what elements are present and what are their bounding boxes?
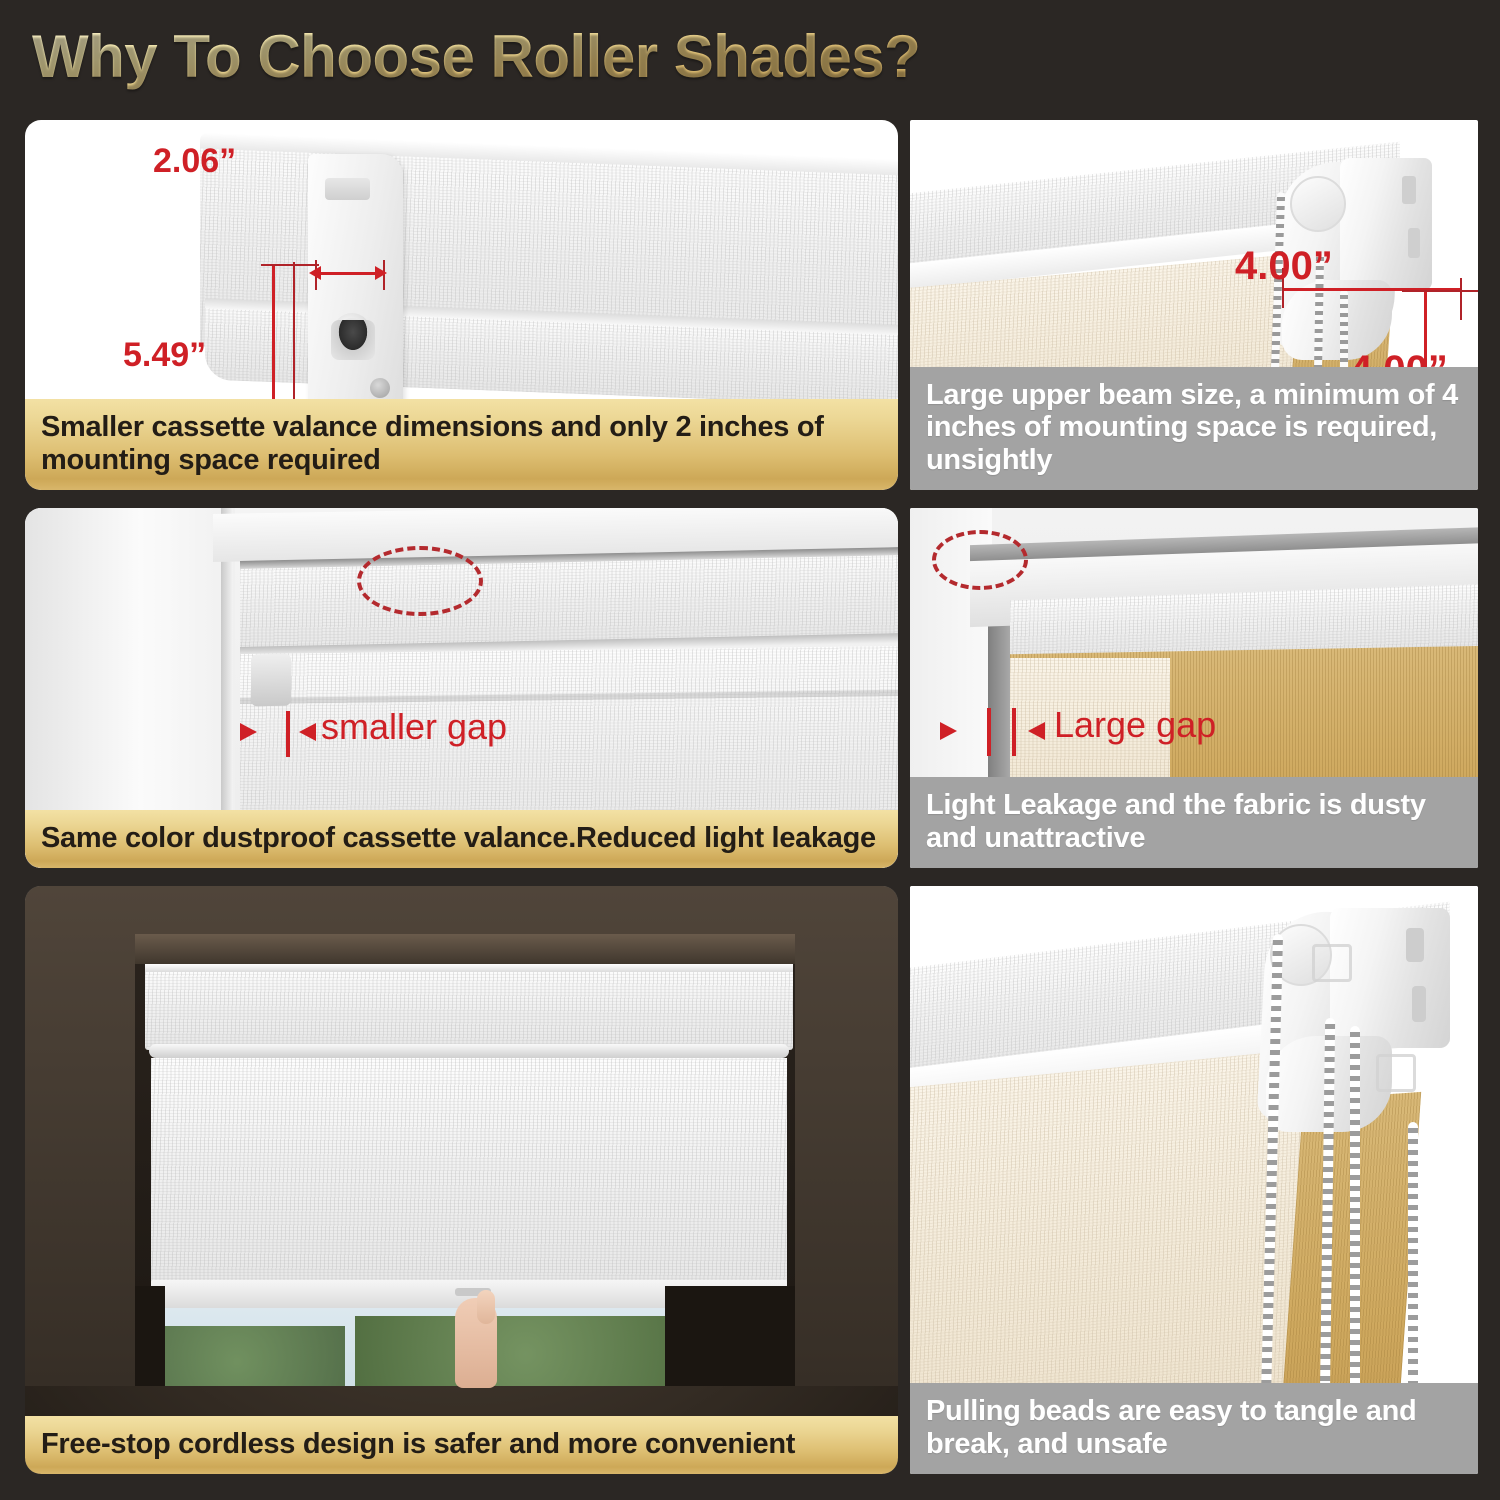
- cordless-shade-fabric: [151, 1058, 787, 1288]
- dimension2-label-width: 4.00”: [1235, 244, 1333, 289]
- dim2-width-tick-right: [1460, 278, 1462, 320]
- end-cap-screw-mid: [370, 378, 390, 398]
- bracket-slot-upper: [1402, 176, 1416, 204]
- roller-bracket-plate: [1340, 158, 1432, 290]
- end-cap-keyhole: [331, 320, 375, 360]
- panel-3-caption: Same color dustproof cassette valance.Re…: [25, 810, 898, 868]
- window-sill-left: [135, 1286, 165, 1386]
- beads-bracket-slot-upper: [1406, 928, 1424, 962]
- dimension-label-width: 2.06”: [153, 142, 236, 181]
- thumb: [477, 1290, 495, 1324]
- gap-arrow-right: [240, 723, 257, 741]
- dim2-height-tick-top: [1402, 290, 1478, 292]
- window-header-trim: [135, 934, 795, 964]
- gap-highlight-ellipse: [357, 546, 483, 616]
- bracket-slot-lower: [1408, 228, 1420, 258]
- gap-marker-left-2: [987, 708, 991, 756]
- roller-tube-end: [251, 654, 291, 707]
- beads-bracket-slot-lower: [1412, 986, 1426, 1022]
- bracket-roller-disc: [1290, 176, 1346, 232]
- gap-label-smaller: smaller gap: [321, 706, 507, 748]
- gap-highlight-ellipse-2: [932, 530, 1028, 590]
- panel-6-caption: Pulling beads are easy to tangle and bre…: [910, 1383, 1478, 1474]
- tree-left: [165, 1326, 345, 1386]
- panel-5-caption: Free-stop cordless design is safer and m…: [25, 1416, 898, 1474]
- gap-arrow-left: [299, 723, 316, 741]
- panel-cordless-design: Free-stop cordless design is safer and m…: [25, 886, 898, 1474]
- tree-right: [355, 1316, 665, 1386]
- bracket-down-arrow-icon: [1376, 1054, 1416, 1092]
- panel-1-caption: Smaller cassette valance dimensions and …: [25, 399, 898, 490]
- window-sill-right: [665, 1286, 795, 1386]
- end-cap-top-slot: [325, 178, 370, 200]
- dim-vert-top-tick: [261, 264, 319, 266]
- panel-light-leakage: Large gap Light Leakage and the fabric i…: [910, 508, 1478, 868]
- panel-smaller-cassette: 2.06” 5.49” Smaller cassette valance dim…: [25, 120, 898, 490]
- panel-2-caption: Large upper beam size, a minimum of 4 in…: [910, 367, 1478, 490]
- dim-width-arrow-left: [309, 266, 321, 280]
- infographic-page: Why To Choose Roller Shades?: [0, 0, 1500, 1500]
- panel-large-beam: 4.00” 4.00” Large upper beam size, a min…: [910, 120, 1478, 490]
- gap-marker-left: [286, 711, 290, 757]
- cordless-valance: [145, 968, 793, 1050]
- gap-label-large: Large gap: [1054, 704, 1216, 746]
- panel-4-caption: Light Leakage and the fabric is dusty an…: [910, 777, 1478, 868]
- panel-grid: 2.06” 5.49” Smaller cassette valance dim…: [0, 0, 1500, 1500]
- dim-width-arrow-right: [375, 266, 387, 280]
- panel-pulling-beads: Pulling beads are easy to tangle and bre…: [910, 886, 1478, 1474]
- dimension-label-height: 5.49”: [123, 336, 206, 375]
- gap-arrow-left-2: [1028, 722, 1045, 740]
- panel-5-photo: [25, 886, 898, 1474]
- valance-bottom-lip: [149, 1044, 789, 1058]
- gap-marker-right-2: [1012, 708, 1016, 756]
- valance-top-line: [145, 964, 793, 972]
- panel-dustproof-valance: smaller gap Same color dustproof cassett…: [25, 508, 898, 868]
- bracket-up-arrow-icon: [1312, 944, 1352, 982]
- gap-arrow-right-2: [940, 722, 957, 740]
